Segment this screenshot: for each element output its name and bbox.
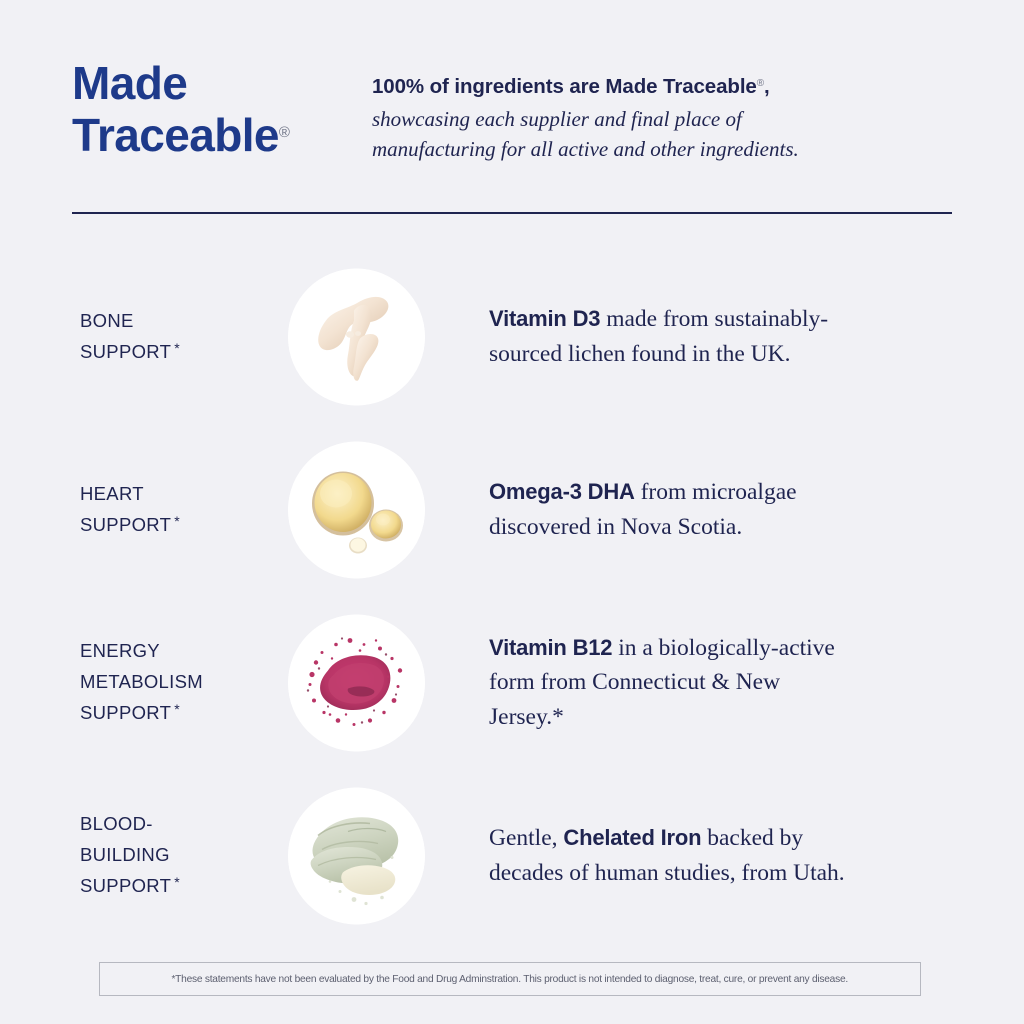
intro-lead-text: 100% of ingredients are Made Traceable <box>372 75 757 98</box>
benefit-description-line: Jersey.* <box>489 700 946 734</box>
benefit-label-line-text: SUPPORT <box>80 514 171 535</box>
benefit-row: BONE SUPPORT* <box>0 250 1024 423</box>
made-traceable-infographic: Made Traceable® 100% of ingredients are … <box>0 0 1024 1024</box>
benefit-label-line: SUPPORT* <box>80 510 280 541</box>
asterisk-icon: * <box>174 513 180 529</box>
ingredient-name: Chelated Iron <box>563 825 701 850</box>
benefit-label-line: BLOOD- <box>80 809 280 840</box>
intro-subtext-line1: showcasing each supplier and final place… <box>372 104 932 135</box>
disclaimer-box: *These statements have not been evaluate… <box>99 962 921 996</box>
intro-lead-suffix: , <box>764 75 770 98</box>
asterisk-icon: * <box>174 701 180 717</box>
disclaimer-text: *These statements have not been evaluate… <box>172 973 849 985</box>
header-divider <box>72 212 952 214</box>
sage-cream-paste-swatch <box>288 787 425 924</box>
benefit-description-line: Omega-3 DHA from microalgae <box>489 475 946 509</box>
benefit-label-line: SUPPORT* <box>80 698 280 729</box>
golden-oil-droplets-swatch <box>288 441 425 578</box>
benefit-description: Omega-3 DHA from microalgae discovered i… <box>489 475 946 543</box>
benefit-description-line: Vitamin B12 in a biologically-active <box>489 631 946 665</box>
benefit-description-text: backed by <box>701 825 803 851</box>
benefit-description-line: form from Connecticut & New <box>489 665 946 699</box>
benefit-description-prefix: Gentle, <box>489 825 563 851</box>
intro-subtext-line2: manufacturing for all active and other i… <box>372 134 932 165</box>
benefit-row: ENERGY METABOLISM SUPPORT* <box>0 596 1024 769</box>
benefit-row: HEART SUPPORT* <box>0 423 1024 596</box>
benefit-label-line-text: SUPPORT <box>80 341 171 362</box>
registered-trademark-icon: ® <box>279 124 290 141</box>
benefit-label-line: BONE <box>80 306 280 337</box>
benefit-description-line: discovered in Nova Scotia. <box>489 510 946 544</box>
asterisk-icon: * <box>174 340 180 356</box>
benefit-label: BLOOD- BUILDING SUPPORT* <box>80 809 280 901</box>
benefit-label-line-text: SUPPORT <box>80 875 171 896</box>
intro-subtext: showcasing each supplier and final place… <box>372 104 932 165</box>
cream-liquid-swirl-swatch <box>288 268 425 405</box>
benefit-label-line: ENERGY <box>80 636 280 667</box>
benefit-description-text: in a biologically-active <box>612 635 835 661</box>
benefit-description-text: from microalgae <box>635 479 797 505</box>
benefit-description: Vitamin B12 in a biologically-active for… <box>489 631 946 733</box>
ingredient-name: Vitamin B12 <box>489 635 612 660</box>
intro-lead: 100% of ingredients are Made Traceable®, <box>372 72 932 103</box>
benefit-description-line: sourced lichen found in the UK. <box>489 337 946 371</box>
benefit-description-line: Vitamin D3 made from sustainably- <box>489 302 946 336</box>
benefit-label: ENERGY METABOLISM SUPPORT* <box>80 636 280 728</box>
benefit-label: BONE SUPPORT* <box>80 306 280 367</box>
benefit-label-line: SUPPORT* <box>80 337 280 368</box>
benefit-description-line: Gentle, Chelated Iron backed by <box>489 821 946 855</box>
benefit-rows: BONE SUPPORT* <box>0 250 1024 942</box>
benefit-label-line-text: SUPPORT <box>80 702 171 723</box>
benefit-label-line: HEART <box>80 479 280 510</box>
benefit-label: HEART SUPPORT* <box>80 479 280 540</box>
brand-title-line2-text: Traceable <box>72 109 279 161</box>
benefit-description-text: made from sustainably- <box>600 306 828 332</box>
brand-title: Made Traceable® <box>72 58 372 161</box>
asterisk-icon: * <box>174 874 180 890</box>
brand-title-line1: Made <box>72 58 372 110</box>
benefit-description: Vitamin D3 made from sustainably- source… <box>489 302 946 370</box>
benefit-label-line: METABOLISM <box>80 667 280 698</box>
ingredient-name: Omega-3 DHA <box>489 479 635 504</box>
benefit-label-line: BUILDING <box>80 840 280 871</box>
ingredient-name: Vitamin D3 <box>489 306 600 331</box>
benefit-row: BLOOD- BUILDING SUPPORT* <box>0 769 1024 942</box>
intro-registered-trademark-icon: ® <box>757 78 764 89</box>
benefit-description-line: decades of human studies, from Utah. <box>489 856 946 890</box>
benefit-description: Gentle, Chelated Iron backed by decades … <box>489 821 946 889</box>
intro-block: 100% of ingredients are Made Traceable®,… <box>372 58 932 165</box>
magenta-powder-swatch <box>288 614 425 751</box>
benefit-label-line: SUPPORT* <box>80 871 280 902</box>
brand-title-line2: Traceable® <box>72 110 372 162</box>
header: Made Traceable® 100% of ingredients are … <box>72 58 952 165</box>
